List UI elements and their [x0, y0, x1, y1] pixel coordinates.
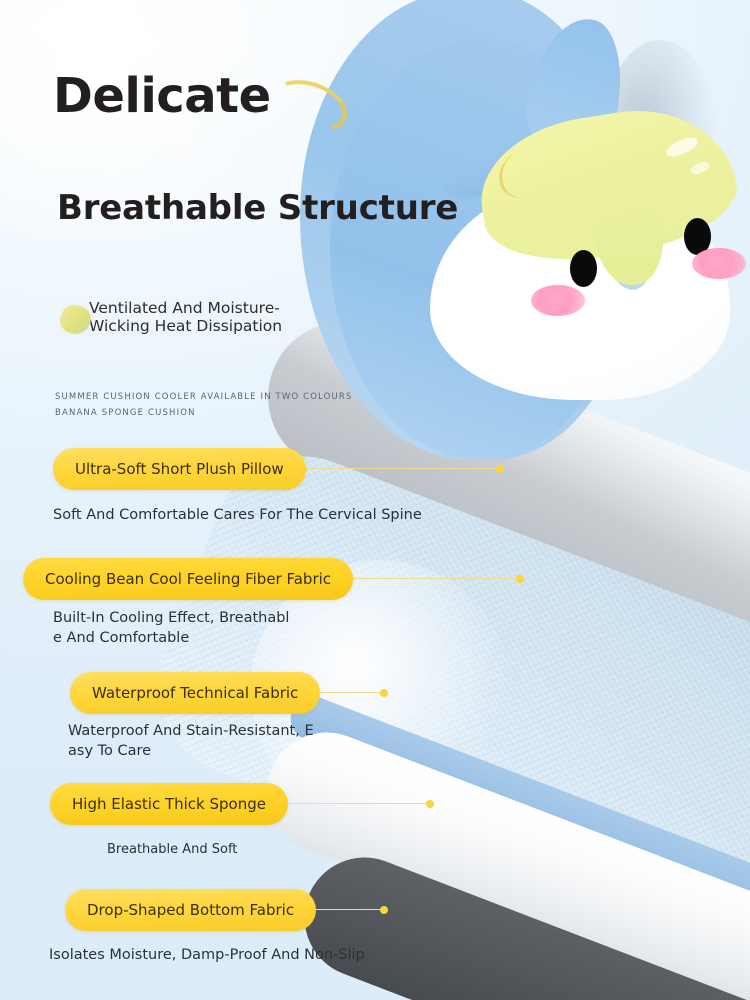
- callout-pill-bottom-fabric[interactable]: Drop-Shaped Bottom Fabric: [65, 889, 316, 931]
- character-body: [300, 0, 630, 460]
- ventilated-feature: Ventilated And Moisture- Wicking Heat Di…: [60, 300, 282, 336]
- layer-plush-pillow-top: [246, 300, 750, 698]
- callout-desc-waterproof-fabric: Waterproof And Stain-Resistant, E asy To…: [68, 722, 314, 761]
- callout-desc-plush-pillow: Soft And Comfortable Cares For The Cervi…: [53, 506, 422, 526]
- swoosh-accent-icon: [264, 71, 353, 141]
- page-subtitle: Breathable Structure: [57, 188, 458, 228]
- background-glow-bottom-right: [430, 500, 750, 880]
- character-mask-strap: [438, 113, 633, 211]
- leader-line-1: [278, 468, 500, 469]
- caps-line-2: BANANA SPONGE CUSHION: [55, 408, 196, 418]
- character-eye-right: [684, 218, 711, 255]
- sleep-mask-shine-small: [689, 159, 711, 176]
- callout-pill-waterproof-fabric[interactable]: Waterproof Technical Fabric: [70, 672, 320, 714]
- callout-desc-elastic-sponge: Breathable And Soft: [107, 841, 237, 859]
- product-infographic: Delicate Breathable Structure Ventilated…: [0, 0, 750, 1000]
- sleep-mask-icon: [471, 96, 745, 274]
- character-body-highlight: [330, 40, 630, 460]
- character-fin-icon: [521, 12, 630, 163]
- leader-line-4: [278, 803, 430, 804]
- banana-sponge-icon: [60, 305, 91, 334]
- character-shadow: [600, 40, 720, 250]
- callout-desc-bottom-fabric: Isolates Moisture, Damp-Proof And Non-Sl…: [49, 946, 365, 966]
- ventilated-label: Ventilated And Moisture- Wicking Heat Di…: [89, 300, 282, 336]
- character-cheek-right: [692, 248, 746, 279]
- callout-pill-elastic-sponge[interactable]: High Elastic Thick Sponge: [50, 783, 288, 825]
- sleep-mask-shine: [664, 134, 701, 161]
- callout-desc-cooling-fiber: Built-In Cooling Effect, Breathabl e And…: [53, 609, 289, 648]
- caps-line-1: SUMMER CUSHION COOLER AVAILABLE IN TWO C…: [55, 392, 352, 402]
- character-eye-left: [570, 250, 597, 287]
- character-cheek-left: [531, 285, 585, 316]
- character-mask-gap: [595, 192, 663, 293]
- layer-bottom-fabric: [287, 840, 750, 1000]
- layer-waterproof-fabric-edge: [284, 690, 750, 982]
- page-title: Delicate: [53, 68, 271, 124]
- character-head: [430, 185, 730, 400]
- callout-pill-cooling-fiber[interactable]: Cooling Bean Cool Feeling Fiber Fabric: [23, 558, 353, 600]
- callout-pill-plush-pillow[interactable]: Ultra-Soft Short Plush Pillow: [53, 448, 306, 490]
- sleep-mask-nose-notch: [590, 201, 669, 289]
- sleep-mask-seam: [493, 144, 556, 203]
